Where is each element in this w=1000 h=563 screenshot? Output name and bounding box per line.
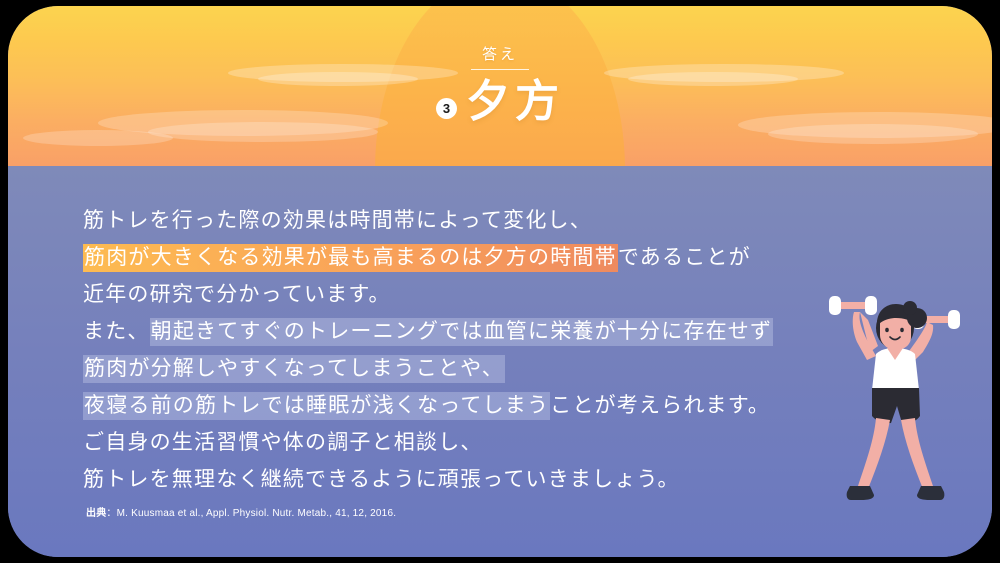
explanation-line: 筋肉が分解しやすくなってしまうことや、	[83, 350, 843, 387]
explanation-panel: 筋トレを行った際の効果は時間帯によって変化し、筋肉が大きくなる効果が最も高まるの…	[8, 166, 992, 557]
explanation-line: 近年の研究で分かっています。	[83, 276, 843, 313]
answer-word: 夕方	[466, 79, 564, 125]
text-run: ことが考えられます。	[550, 394, 770, 417]
explanation-line: また、朝起きてすぐのトレーニングでは血管に栄養が十分に存在せず	[83, 313, 843, 350]
answer-header: 答え 3 夕方	[8, 6, 992, 166]
explanation-line: ご自身の生活習慣や体の調子と相談し、	[83, 424, 843, 461]
label-divider	[471, 69, 529, 70]
text-run: であることが	[618, 246, 751, 269]
explanation-line: 筋肉が大きくなる効果が最も高まるのは夕方の時間帯であることが	[83, 239, 843, 276]
highlighted-text-run: 筋肉が分解しやすくなってしまうことや、	[83, 355, 505, 383]
answer-label: 答え	[482, 47, 518, 69]
citation-prefix: 出典	[86, 508, 106, 519]
citation-separator: ：	[106, 508, 116, 519]
explanation-line: 筋トレを行った際の効果は時間帯によって変化し、	[83, 202, 843, 239]
text-run: 近年の研究で分かっています。	[83, 283, 391, 306]
text-run: また、	[83, 320, 150, 343]
text-run: 筋トレを行った際の効果は時間帯によって変化し、	[83, 209, 592, 232]
explanation-line: 筋トレを無理なく継続できるように頑張っていきましょう。	[83, 461, 843, 498]
citation-reference: M. Kuusmaa et al., Appl. Physiol. Nutr. …	[117, 508, 397, 519]
source-citation: 出典：M. Kuusmaa et al., Appl. Physiol. Nut…	[86, 504, 396, 519]
explanation-text: 筋トレを行った際の効果は時間帯によって変化し、筋肉が大きくなる効果が最も高まるの…	[83, 202, 843, 498]
text-run: 筋トレを無理なく継続できるように頑張っていきましょう。	[83, 468, 680, 491]
highlighted-text-run: 夜寝る前の筋トレでは睡眠が浅くなってしまう	[83, 392, 550, 420]
text-run: ご自身の生活習慣や体の調子と相談し、	[83, 431, 483, 454]
highlighted-text-run: 朝起きてすぐのトレーニングでは血管に栄養が十分に存在せず	[150, 318, 774, 346]
slide-card: 答え 3 夕方 筋トレを行った際の効果は時間帯によって変化し、筋肉が大きくなる効…	[8, 6, 992, 557]
highlighted-text-run: 筋肉が大きくなる効果が最も高まるのは夕方の時間帯	[83, 244, 618, 272]
answer-row: 3 夕方	[436, 79, 564, 125]
answer-number-badge: 3	[436, 98, 457, 119]
explanation-line: 夜寝る前の筋トレでは睡眠が浅くなってしまうことが考えられます。	[83, 387, 843, 424]
